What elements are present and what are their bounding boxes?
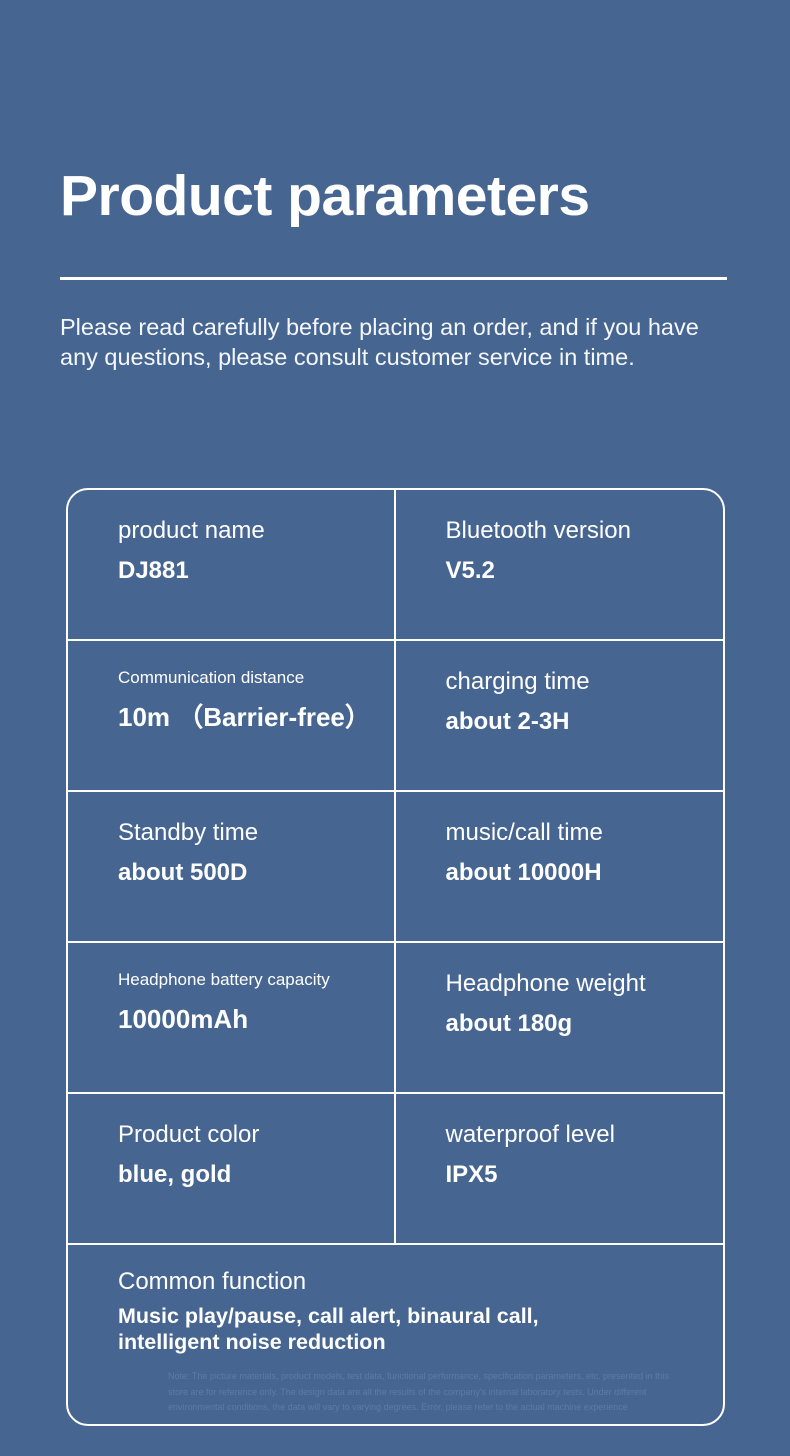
table-row: Communication distance 10m （Barrier-free… (68, 641, 723, 792)
table-row: Common function Music play/pause, call a… (68, 1245, 723, 1424)
spec-cell-bluetooth-version: Bluetooth version V5.2 (396, 490, 724, 639)
spec-label: Bluetooth version (446, 516, 724, 546)
spec-value: blue, gold (118, 1160, 394, 1190)
spec-value: IPX5 (446, 1160, 724, 1190)
spec-cell-product-color: Product color blue, gold (68, 1094, 396, 1243)
spec-value: about 180g (446, 1009, 724, 1039)
spec-value: about 10000H (446, 858, 724, 888)
spec-cell-communication-distance: Communication distance 10m （Barrier-free… (68, 641, 396, 790)
spec-value: 10000mAh (118, 1003, 394, 1036)
spec-cell-common-function: Common function Music play/pause, call a… (68, 1245, 723, 1424)
spec-cell-standby-time: Standby time about 500D (68, 792, 396, 941)
spec-value: DJ881 (118, 556, 394, 586)
spec-value: V5.2 (446, 556, 724, 586)
spec-label: Headphone weight (446, 969, 724, 999)
spec-cell-waterproof-level: waterproof level IPX5 (396, 1094, 724, 1243)
spec-value: Music play/pause, call alert, binaural c… (118, 1303, 723, 1355)
spec-label: Standby time (118, 818, 394, 848)
spec-label: Communication distance (118, 667, 394, 688)
spec-label: music/call time (446, 818, 724, 848)
spec-label: product name (118, 516, 394, 546)
spec-cell-music-call-time: music/call time about 10000H (396, 792, 724, 941)
table-row: Product color blue, gold waterproof leve… (68, 1094, 723, 1245)
specification-table: product name DJ881 Bluetooth version V5.… (66, 488, 725, 1426)
spec-cell-product-name: product name DJ881 (68, 490, 396, 639)
table-row: Standby time about 500D music/call time … (68, 792, 723, 943)
spec-label: waterproof level (446, 1120, 724, 1150)
spec-cell-charging-time: charging time about 2-3H (396, 641, 724, 790)
table-row: Headphone battery capacity 10000mAh Head… (68, 943, 723, 1094)
spec-label: Product color (118, 1120, 394, 1150)
spec-value: about 500D (118, 858, 394, 888)
disclaimer-note: Note: The picture materials, product mod… (118, 1369, 723, 1416)
spec-label: Headphone battery capacity (118, 969, 394, 990)
table-row: product name DJ881 Bluetooth version V5.… (68, 490, 723, 641)
title-divider (60, 277, 727, 280)
page-title: Product parameters (60, 168, 590, 225)
spec-value: 10m （Barrier-free） (118, 701, 394, 734)
page-subtitle: Please read carefully before placing an … (60, 312, 736, 372)
spec-cell-battery-capacity: Headphone battery capacity 10000mAh (68, 943, 396, 1092)
spec-label: charging time (446, 667, 724, 697)
spec-value: about 2-3H (446, 707, 724, 737)
spec-label: Common function (118, 1267, 723, 1297)
spec-cell-headphone-weight: Headphone weight about 180g (396, 943, 724, 1092)
